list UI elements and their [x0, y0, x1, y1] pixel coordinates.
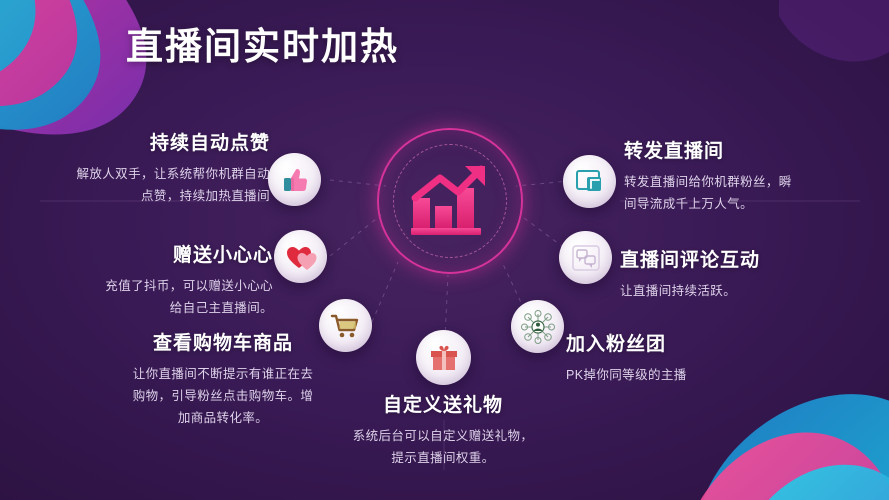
shopping-cart-icon[interactable]	[319, 299, 372, 352]
feature-description: 系统后台可以自定义赠送礼物，提示直播间权重。	[348, 426, 538, 470]
feature-heading: 持续自动点赞	[65, 133, 270, 156]
feature-view-cart: 查看购物车商品 让你直播间不断提示有谁正在去购物，引导粉丝点击购物车。增加商品转…	[128, 333, 318, 429]
share-screen-icon[interactable]	[563, 155, 616, 208]
feature-share-room: 转发直播间 转发直播间给你机群粉丝，瞬间导流成千上万人气。	[624, 141, 814, 216]
gift-box-icon[interactable]	[416, 330, 471, 385]
feature-comment-interact: 直播间评论互动 让直播间持续活跃。	[620, 250, 790, 303]
promo-poster: 直播间实时加热	[0, 0, 889, 500]
feature-send-hearts: 赠送小心心 充值了抖币，可以赠送小心心给自己主直播间。	[95, 245, 273, 320]
feature-heading: 自定义送礼物	[348, 395, 538, 418]
feature-description: 让直播间持续活跃。	[620, 281, 785, 303]
comment-bubble-icon[interactable]	[559, 231, 612, 284]
feature-auto-like: 持续自动点赞 解放人双手，让系统帮你机群自动点赞，持续加热直播间	[65, 133, 270, 208]
feature-custom-gift: 自定义送礼物 系统后台可以自定义赠送礼物，提示直播间权重。	[348, 395, 538, 470]
fan-group-network-icon[interactable]	[511, 300, 564, 353]
growth-bar-chart-icon	[403, 154, 497, 248]
feature-heading: 转发直播间	[624, 141, 814, 164]
feature-heading: 加入粉丝团	[566, 334, 736, 357]
feature-description: 解放人双手，让系统帮你机群自动点赞，持续加热直播间	[65, 164, 270, 208]
thumbs-up-icon[interactable]	[268, 153, 321, 206]
feature-heading: 查看购物车商品	[128, 333, 318, 356]
feature-description: 转发直播间给你机群粉丝，瞬间导流成千上万人气。	[624, 172, 802, 216]
feature-heading: 赠送小心心	[95, 245, 273, 268]
feature-join-fans: 加入粉丝团 PK掉你同等级的主播	[566, 334, 736, 387]
feature-description: PK掉你同等级的主播	[566, 365, 731, 387]
feature-description: 充值了抖币，可以赠送小心心给自己主直播间。	[95, 276, 273, 320]
hearts-icon[interactable]	[274, 230, 327, 283]
page-title: 直播间实时加热	[126, 16, 399, 70]
center-hub	[377, 128, 523, 274]
feature-description: 让你直播间不断提示有谁正在去购物，引导粉丝点击购物车。增加商品转化率。	[128, 364, 318, 430]
feature-heading: 直播间评论互动	[620, 250, 790, 273]
